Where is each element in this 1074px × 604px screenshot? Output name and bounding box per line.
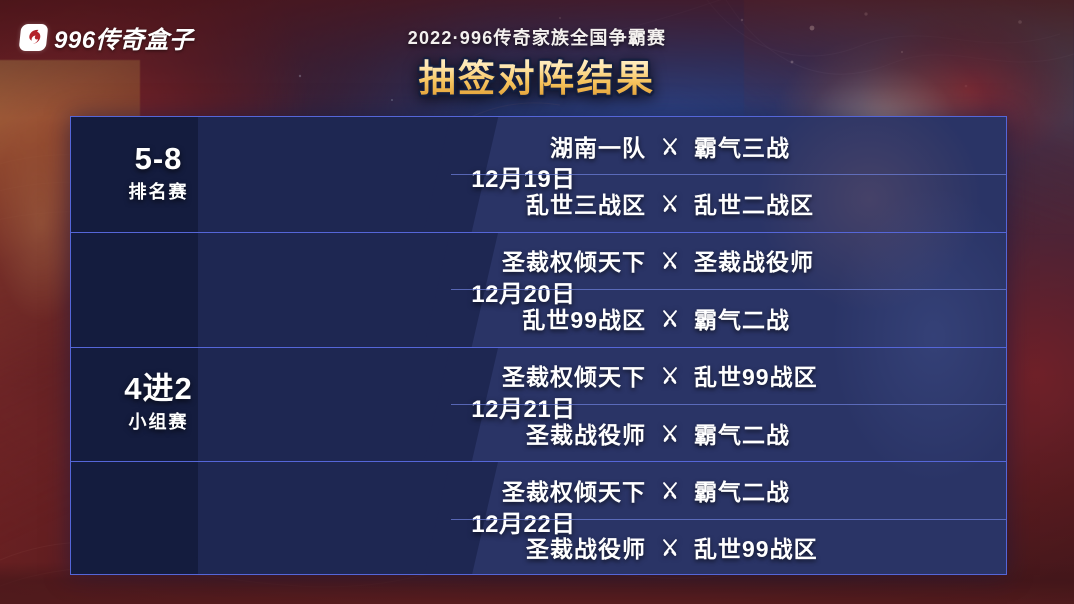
crossed-swords-icon: [646, 249, 694, 271]
stage-divider: [71, 232, 1006, 233]
date-group-divider: [71, 347, 1006, 348]
team-a-name: 圣裁战役师: [451, 416, 646, 450]
crossed-swords-icon: [646, 135, 694, 157]
team-a-name: 湖南一队: [451, 129, 646, 163]
crossed-swords-icon: [646, 364, 694, 386]
match-row[interactable]: 乱世三战区乱世二战区: [451, 174, 1006, 231]
team-a-name: 圣裁权倾天下: [451, 473, 646, 507]
match-row-divider: [451, 404, 1006, 405]
stage-name: 4进2: [71, 372, 246, 406]
team-b-name: 乱世99战区: [694, 530, 924, 564]
match-row[interactable]: 圣裁权倾天下霸气二战: [451, 461, 1006, 518]
match-row-divider: [451, 519, 1006, 520]
date-cell: [198, 117, 451, 232]
team-a-name: 圣裁战役师: [451, 530, 646, 564]
date-group-divider: [71, 461, 1006, 462]
crossed-swords-icon: [646, 536, 694, 558]
team-a-name: 圣裁权倾天下: [451, 243, 646, 277]
match-row[interactable]: 湖南一队霸气三战: [451, 117, 1006, 174]
stage-subname: 排名赛: [71, 178, 246, 204]
date-cell: [198, 232, 451, 347]
match-row[interactable]: 圣裁战役师霸气二战: [451, 404, 1006, 461]
date-cell: [198, 461, 451, 575]
match-row[interactable]: 圣裁权倾天下圣裁战役师: [451, 232, 1006, 289]
team-b-name: 霸气二战: [694, 301, 924, 335]
page-title: 抽签对阵结果: [0, 48, 1074, 102]
team-b-name: 圣裁战役师: [694, 243, 924, 277]
match-row[interactable]: 圣裁战役师乱世99战区: [451, 519, 1006, 575]
team-a-name: 圣裁权倾天下: [451, 358, 646, 392]
date-column: 12月19日12月20日12月21日12月22日: [246, 117, 451, 574]
team-b-name: 霸气二战: [694, 473, 924, 507]
stage-label: 5-8排名赛: [71, 142, 246, 204]
match-row[interactable]: 圣裁权倾天下乱世99战区: [451, 347, 1006, 404]
match-row-divider: [451, 174, 1006, 175]
crossed-swords-icon: [646, 479, 694, 501]
team-b-name: 霸气三战: [694, 129, 924, 163]
date-cell: [198, 347, 451, 462]
stage-column: 5-8排名赛4进2小组赛: [71, 117, 246, 574]
stage-name: 5-8: [71, 142, 246, 176]
crossed-swords-icon: [646, 192, 694, 214]
crossed-swords-icon: [646, 307, 694, 329]
team-b-name: 乱世二战区: [694, 186, 924, 220]
team-a-name: 乱世三战区: [451, 186, 646, 220]
team-a-name: 乱世99战区: [451, 301, 646, 335]
crossed-swords-icon: [646, 422, 694, 444]
team-b-name: 霸气二战: [694, 416, 924, 450]
match-row[interactable]: 乱世99战区霸气二战: [451, 289, 1006, 346]
stage-subname: 小组赛: [71, 408, 246, 434]
stage-cell: [71, 232, 246, 575]
bracket-table: 5-8排名赛4进2小组赛 12月19日12月20日12月21日12月22日 湖南…: [70, 116, 1007, 575]
stage-cell: [71, 117, 246, 232]
stage-label: 4进2小组赛: [71, 372, 246, 434]
match-row-divider: [451, 289, 1006, 290]
team-b-name: 乱世99战区: [694, 358, 924, 392]
tournament-bracket-poster: 996传奇盒子 2022·996传奇家族全国争霸赛 抽签对阵结果 5-8排名赛4…: [0, 0, 1074, 604]
event-subtitle: 2022·996传奇家族全国争霸赛: [0, 24, 1074, 50]
